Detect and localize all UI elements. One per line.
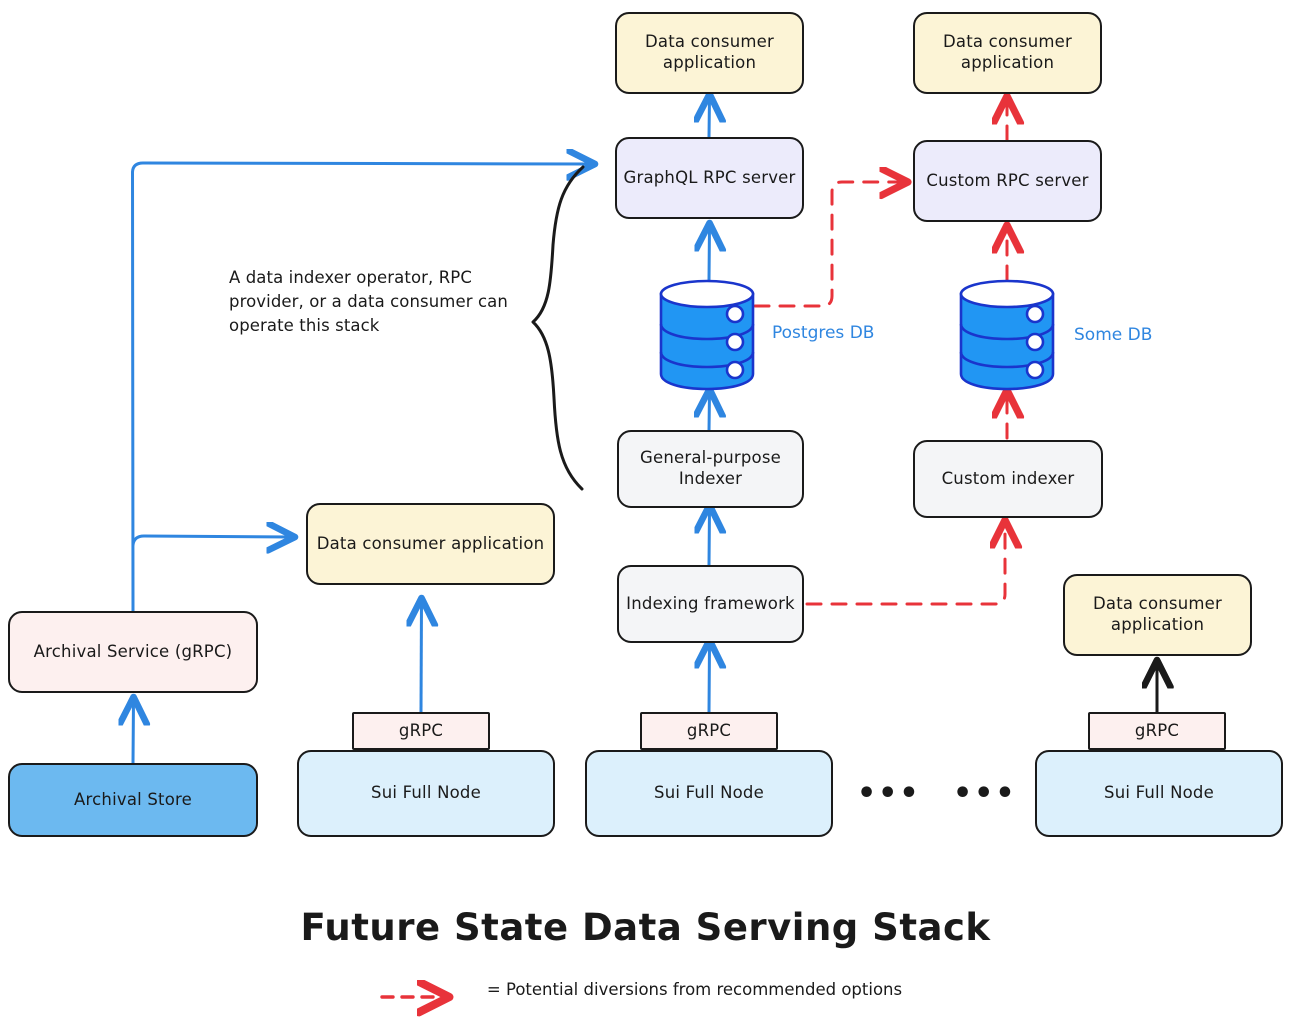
arrow-indexer-to-postgres bbox=[709, 392, 710, 431]
diagram-canvas: Data consumer application Data consumer … bbox=[0, 0, 1291, 1018]
node-archival-store[interactable]: Archival Store bbox=[8, 763, 258, 837]
arrow-grpc1-to-consumer-mid bbox=[421, 601, 422, 712]
node-grpc-chip-1[interactable]: gRPC bbox=[352, 712, 490, 750]
node-indexing-framework[interactable]: Indexing framework bbox=[617, 565, 804, 643]
node-label: gRPC bbox=[1135, 721, 1179, 742]
node-label: Custom indexer bbox=[942, 469, 1075, 490]
node-grpc-chip-3[interactable]: gRPC bbox=[1088, 712, 1226, 750]
db-label-postgres: Postgres DB bbox=[772, 323, 874, 343]
node-label: General-purpose Indexer bbox=[625, 448, 796, 489]
node-custom-indexer[interactable]: Custom indexer bbox=[913, 440, 1103, 518]
node-data-consumer-application-bottom-right[interactable]: Data consumer application bbox=[1063, 574, 1252, 656]
node-grpc-chip-2[interactable]: gRPC bbox=[640, 712, 778, 750]
node-data-consumer-application-mid-left[interactable]: Data consumer application bbox=[306, 503, 555, 585]
node-label: Data consumer application bbox=[623, 32, 796, 73]
arrow-indexing-framework-to-custom-indexer bbox=[807, 523, 1005, 604]
node-label: Sui Full Node bbox=[654, 783, 764, 804]
node-archival-service-grpc[interactable]: Archival Service (gRPC) bbox=[8, 611, 258, 693]
arrow-indexing-framework-to-indexer bbox=[709, 508, 710, 565]
node-sui-full-node-2[interactable]: Sui Full Node bbox=[585, 750, 833, 837]
node-label: gRPC bbox=[687, 721, 731, 742]
annotation-operator-note: A data indexer operator, RPC provider, o… bbox=[229, 266, 509, 338]
arrow-graphql-to-consumer-top-left bbox=[709, 97, 710, 137]
node-label: gRPC bbox=[399, 721, 443, 742]
arrow-grpc2-to-indexing-framework bbox=[709, 643, 710, 712]
db-label-some-db: Some DB bbox=[1074, 325, 1152, 345]
legend: = Potential diversions from recommended … bbox=[0, 980, 1291, 999]
node-data-consumer-application-top-right[interactable]: Data consumer application bbox=[913, 12, 1102, 94]
node-sui-full-node-3[interactable]: Sui Full Node bbox=[1035, 750, 1283, 837]
legend-symbol-spacer bbox=[389, 982, 477, 998]
node-label: Archival Service (gRPC) bbox=[34, 642, 233, 663]
arrow-archival-store-to-service bbox=[133, 700, 134, 763]
node-label: Data consumer application bbox=[317, 534, 545, 555]
node-graphql-rpc-server[interactable]: GraphQL RPC server bbox=[615, 137, 804, 219]
database-cylinder-some-db[interactable] bbox=[955, 276, 1059, 392]
legend-text: = Potential diversions from recommended … bbox=[487, 980, 902, 999]
page-title: Future State Data Serving Stack bbox=[0, 906, 1291, 949]
node-label: Indexing framework bbox=[626, 594, 795, 615]
node-label: Custom RPC server bbox=[926, 171, 1088, 192]
node-general-purpose-indexer[interactable]: General-purpose Indexer bbox=[617, 430, 804, 508]
node-sui-full-node-1[interactable]: Sui Full Node bbox=[297, 750, 555, 837]
node-data-consumer-application-top-left[interactable]: Data consumer application bbox=[615, 12, 804, 94]
node-label: Sui Full Node bbox=[371, 783, 481, 804]
node-label: Archival Store bbox=[74, 790, 192, 811]
arrow-archival-service-to-consumer-mid bbox=[133, 536, 292, 545]
node-custom-rpc-server[interactable]: Custom RPC server bbox=[913, 140, 1102, 222]
curly-brace bbox=[533, 167, 583, 489]
node-label: Data consumer application bbox=[1071, 594, 1244, 635]
arrow-postgres-to-graphql bbox=[709, 226, 710, 280]
node-label: Sui Full Node bbox=[1104, 783, 1214, 804]
ellipsis-right: ••• bbox=[953, 776, 1017, 811]
node-label: Data consumer application bbox=[921, 32, 1094, 73]
ellipsis-left: ••• bbox=[857, 776, 921, 811]
database-cylinder-postgres[interactable] bbox=[655, 276, 759, 392]
node-label: GraphQL RPC server bbox=[623, 168, 795, 189]
